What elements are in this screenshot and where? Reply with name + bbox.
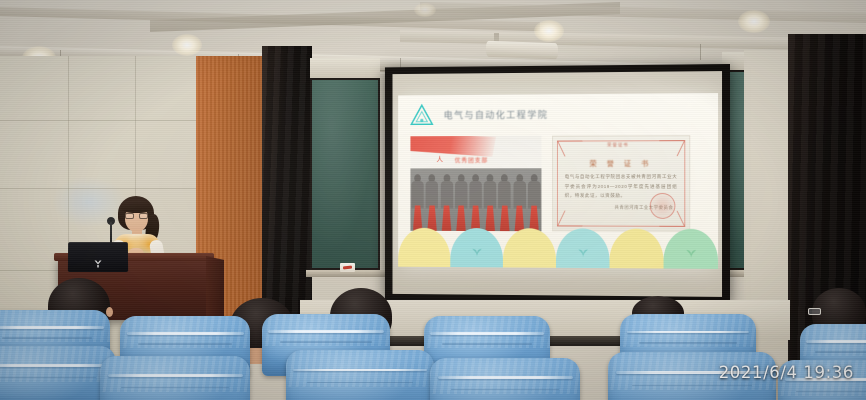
ceiling-seam (700, 44, 701, 60)
leaf-icon (684, 246, 698, 258)
laptop-brand-logo-icon (93, 259, 103, 269)
person-silhouette (425, 172, 439, 231)
arch-shape (398, 228, 450, 267)
chalk-eraser (340, 263, 355, 272)
certificate-ribbon: 荣誉证书 (607, 142, 629, 148)
arch-shape (450, 228, 503, 267)
group-photo: 人 优秀团支部 (410, 136, 541, 232)
presenter-bangs (121, 200, 152, 213)
auditorium-seat (286, 350, 434, 400)
slide-header: 电气与自动化工程学院 (398, 93, 718, 134)
downlight-icon (414, 3, 436, 17)
leaf-icon (576, 246, 590, 258)
person-silhouette (483, 172, 497, 231)
downlight-icon (172, 34, 202, 56)
laptop[interactable] (68, 242, 128, 272)
slide-title: 电气与自动化工程学院 (444, 107, 549, 121)
tile-seam (0, 120, 196, 121)
photo-emblem: 人 (436, 155, 443, 165)
downlight-icon (738, 10, 770, 33)
person-silhouette (527, 172, 542, 231)
auditorium-seat (430, 358, 580, 400)
person-silhouette (512, 172, 527, 231)
person-silhouette (411, 172, 425, 231)
chalkboard-left (310, 78, 380, 270)
projection-screen-surface: 电气与自动化工程学院 人 优秀团支部 (392, 71, 722, 297)
ceiling-projector-mount (486, 41, 558, 60)
presentation-slide: 电气与自动化工程学院 人 优秀团支部 (398, 93, 718, 269)
people-row (410, 172, 541, 231)
triangle-logo-icon (409, 103, 434, 127)
tile-seam (0, 188, 196, 189)
group-photo-caption: 优秀团支部 (455, 156, 488, 165)
certificate-heading: 荣 誉 证 书 (553, 158, 689, 169)
arch-shape (610, 229, 664, 269)
camera-timestamp: 2021/6/4 19:36 (719, 363, 854, 382)
projection-screen-frame: 电气与自动化工程学院 人 优秀团支部 (385, 64, 730, 304)
person-silhouette (439, 172, 453, 231)
certificate-photo: 荣誉证书 荣 誉 证 书 电气与自动化工程学院团总支被共青团河南工业大学委员会评… (552, 135, 690, 232)
arch-shape (556, 228, 610, 268)
auditorium-seat (100, 356, 250, 400)
audience-glasses-icon (808, 308, 821, 315)
person-silhouette (498, 172, 512, 231)
arch-shape (503, 228, 556, 268)
leaf-icon (470, 245, 483, 257)
auditorium-seat (0, 346, 116, 400)
lecture-hall-photo: 电气与自动化工程学院 人 优秀团支部 (0, 0, 866, 400)
arch-shape (664, 229, 719, 269)
downlight-icon (534, 20, 564, 42)
person-silhouette (454, 172, 468, 231)
presenter-glasses-icon (125, 213, 148, 219)
person-silhouette (468, 172, 482, 231)
slide-footer-decoration (398, 228, 718, 269)
chalkboard-header-panel (310, 58, 380, 78)
